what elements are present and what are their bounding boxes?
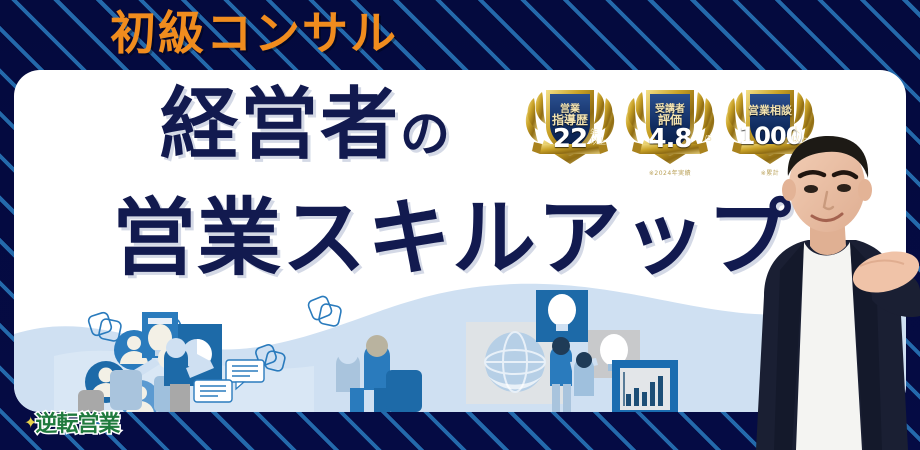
brand-logo-text: 逆転営業: [35, 406, 119, 438]
headline-line-1: 経営者の: [160, 82, 450, 177]
badge-unit-top: /5: [704, 134, 712, 143]
badge-teaching-history: 営業 指導歴 22 年 以上: [520, 84, 620, 189]
headline-line-2: 営業スキルアップ: [112, 190, 792, 286]
presenter-svg: [730, 120, 920, 450]
presenter-photo: [730, 120, 920, 450]
eye-right: [837, 184, 851, 192]
badge-unit-top: 年: [590, 128, 606, 137]
badge-unit-bottom: 以上: [590, 137, 606, 146]
badge-title-top: 営業相談: [720, 102, 820, 118]
badge-student-rating: 受講者 評価 4.8 /5 ※2024年実績: [620, 84, 720, 189]
badge-unit: /5: [704, 134, 712, 143]
marketing-banner: 経営者の 営業スキルアップ: [0, 0, 920, 450]
kicker-text: 初級コンサル: [110, 4, 398, 62]
badge-caption: ※2024年実績: [620, 168, 720, 177]
badge-unit: 年 以上: [590, 128, 606, 146]
headline-particle: の: [400, 105, 450, 163]
brand-logo[interactable]: ✦ 逆転営業: [24, 406, 119, 438]
headline-main: 経営者: [160, 80, 400, 170]
eye-left: [804, 185, 818, 193]
